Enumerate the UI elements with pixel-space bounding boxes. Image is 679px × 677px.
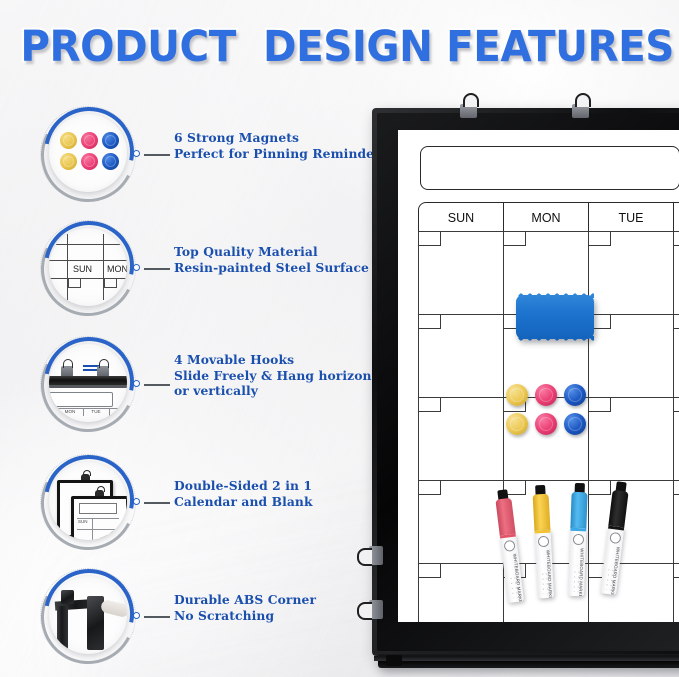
callout-line [144,268,170,270]
feature-line: Double-Sided 2 in 1 [174,478,404,494]
grid-line [92,518,93,540]
page-title: PRODUCT DESIGN FEATURES [20,24,658,70]
day-header-sun: SUN [418,202,504,232]
marker-cap [570,492,587,531]
magnetic-eraser[interactable] [516,295,594,339]
header-box [79,503,117,514]
calendar-cell[interactable] [418,563,504,622]
magnet-blue[interactable] [564,384,586,406]
icon-disc: SUN MON [49,228,127,306]
abs-corner-piece [61,590,74,604]
calendar-cell[interactable] [673,480,679,564]
magnet-yellow[interactable] [506,413,528,435]
board-frame: SUN MON TUE [372,108,679,656]
grip-dots [541,572,550,594]
callout-line [144,616,170,618]
day-label: TUE [83,408,110,416]
feature-line: 6 Strong Magnets [174,130,404,146]
marker-band [608,526,624,531]
calendar-cell[interactable] [673,231,679,315]
callout-line [144,502,170,504]
callout-dot [133,264,140,271]
feature-line: 4 Movable Hooks [174,352,404,368]
callout-dot [133,380,140,387]
day-label: SUN [78,519,88,524]
date-box [419,315,441,329]
feature-line: Perfect for Pinning Reminders [174,146,404,162]
magnet-blue[interactable] [564,413,586,435]
magnet-yellow[interactable] [506,384,528,406]
day-label: SUN [73,264,92,274]
header-box [49,392,113,407]
calendar-surface-icon: SUN MON [40,220,136,316]
callout-connector [133,383,179,385]
grid-line [77,529,119,530]
callout-connector [133,153,179,155]
marker-barrel: WHITEBOARD MARKER [568,528,586,597]
magnet-yellow [60,153,77,170]
board-top-rail [49,376,127,385]
callout-dot [133,612,140,619]
marker-band [500,534,516,539]
hook-rail-closeup: MON TUE [49,352,127,416]
grid-line [67,234,68,300]
magnet-pink[interactable] [535,413,557,435]
day-label: MON [57,408,84,416]
calendar-cell[interactable] [418,480,504,564]
callout-line [144,154,170,156]
feature-item-magnets: 6 Strong Magnets Perfect for Pinning Rem… [34,104,374,208]
day-header-wed [673,202,679,232]
brand-logo-icon [503,540,515,552]
date-box [504,232,526,246]
brand-logo-icon [609,532,621,544]
calendar-cell[interactable] [673,563,679,622]
marker-cap [533,494,551,533]
movable-hooks-icon: MON TUE [40,336,136,432]
calendar-cell[interactable] [418,231,504,315]
feature-item-double-sided: SUN Double-Sided 2 in 1 Calendar and Bla… [34,452,374,556]
board-front: SUN [71,496,127,540]
calendar-cell[interactable] [503,397,589,481]
magnet-pink [81,153,98,170]
brand-logo-icon [538,536,550,548]
calendar-cell[interactable] [418,314,504,398]
feature-text-magnets: 6 Strong Magnets Perfect for Pinning Rem… [174,130,404,161]
icon-disc [49,114,127,192]
feature-item-abs-corner: Durable ABS Corner No Scratching [34,566,374,670]
date-box [589,232,611,246]
header-title-box[interactable] [420,146,679,190]
feature-line: Slide Freely & Hang horizontally [174,368,404,384]
calendar-cell[interactable] [418,397,504,481]
date-box [674,564,679,578]
date-box [674,481,679,495]
marker-band [534,530,550,534]
calendar-cell[interactable] [588,397,674,481]
icon-disc: SUN [49,462,127,540]
magnet-blue [102,153,119,170]
magnet-pink [81,132,98,149]
date-box [674,315,679,329]
date-box [674,232,679,246]
corner-photo [49,576,127,654]
feature-item-hooks: MON TUE 4 Movable Hooks Slide Freely & H… [34,334,374,438]
date-box [674,398,679,412]
date-box [419,564,441,578]
calendar-closeup: SUN MON [49,234,127,300]
day-header-tue: TUE [588,202,674,232]
marker-band [570,528,586,532]
callout-dot [133,150,140,157]
feature-line: Resin-painted Steel Surface [174,260,404,276]
hook-left[interactable] [369,546,383,565]
feature-text-double-sided: Double-Sided 2 in 1 Calendar and Blank [174,478,404,509]
hook-top[interactable] [460,104,477,118]
grid-line [49,260,127,261]
date-box [68,278,81,288]
board-rail-edge [49,385,127,388]
feature-line: Top Quality Material [174,244,404,260]
date-box [589,481,611,495]
calendar-cell[interactable] [588,314,674,398]
date-box [419,232,441,246]
six-magnets-icon [40,106,136,202]
day-label: MON [107,264,127,274]
callout-connector [133,501,179,503]
icon-disc: MON TUE [49,344,127,422]
stacked-boards: SUN [49,462,127,540]
grip-dots [572,570,581,592]
calendar-cell[interactable] [673,397,679,481]
frame-rail-vertical [57,606,68,652]
feature-text-hooks: 4 Movable Hooks Slide Freely & Hang hori… [174,352,404,399]
tray-lip [374,656,679,661]
callout-dot [133,498,140,505]
date-box [589,398,611,412]
hook-left[interactable] [369,600,383,619]
date-box [419,398,441,412]
tray-clip [386,655,402,666]
feature-text-material: Top Quality Material Resin-painted Steel… [174,244,404,275]
calendar-cell[interactable] [588,480,674,564]
board-surface: SUN MON TUE [398,130,679,622]
callout-line [144,384,170,386]
abs-corner-icon [40,568,136,664]
callout-connector [133,615,179,617]
double-sided-boards-icon: SUN [40,454,136,550]
callout-connector [133,267,179,269]
infographic-canvas: PRODUCT DESIGN FEATURES 6 St [0,0,679,677]
magnet-blue [102,132,119,149]
calendar-cell[interactable] [588,231,674,315]
day-header-mon: MON [503,202,589,232]
hook-top[interactable] [572,104,589,118]
feature-line: or vertically [174,383,404,399]
feature-line: Calendar and Blank [174,494,404,510]
grid-line [49,244,127,245]
date-box [104,278,117,288]
icon-disc [49,576,127,654]
dry-erase-calendar-board: SUN MON TUE [372,108,679,656]
grid-line [103,234,104,300]
brand-logo-icon [573,534,584,545]
magnet-grid [60,132,118,174]
magnet-pink[interactable] [535,384,557,406]
magnet-yellow [60,132,77,149]
calendar-cell[interactable] [673,314,679,398]
feature-item-material: SUN MON Top Quality Material Resin-paint… [34,218,374,322]
date-box [419,481,441,495]
